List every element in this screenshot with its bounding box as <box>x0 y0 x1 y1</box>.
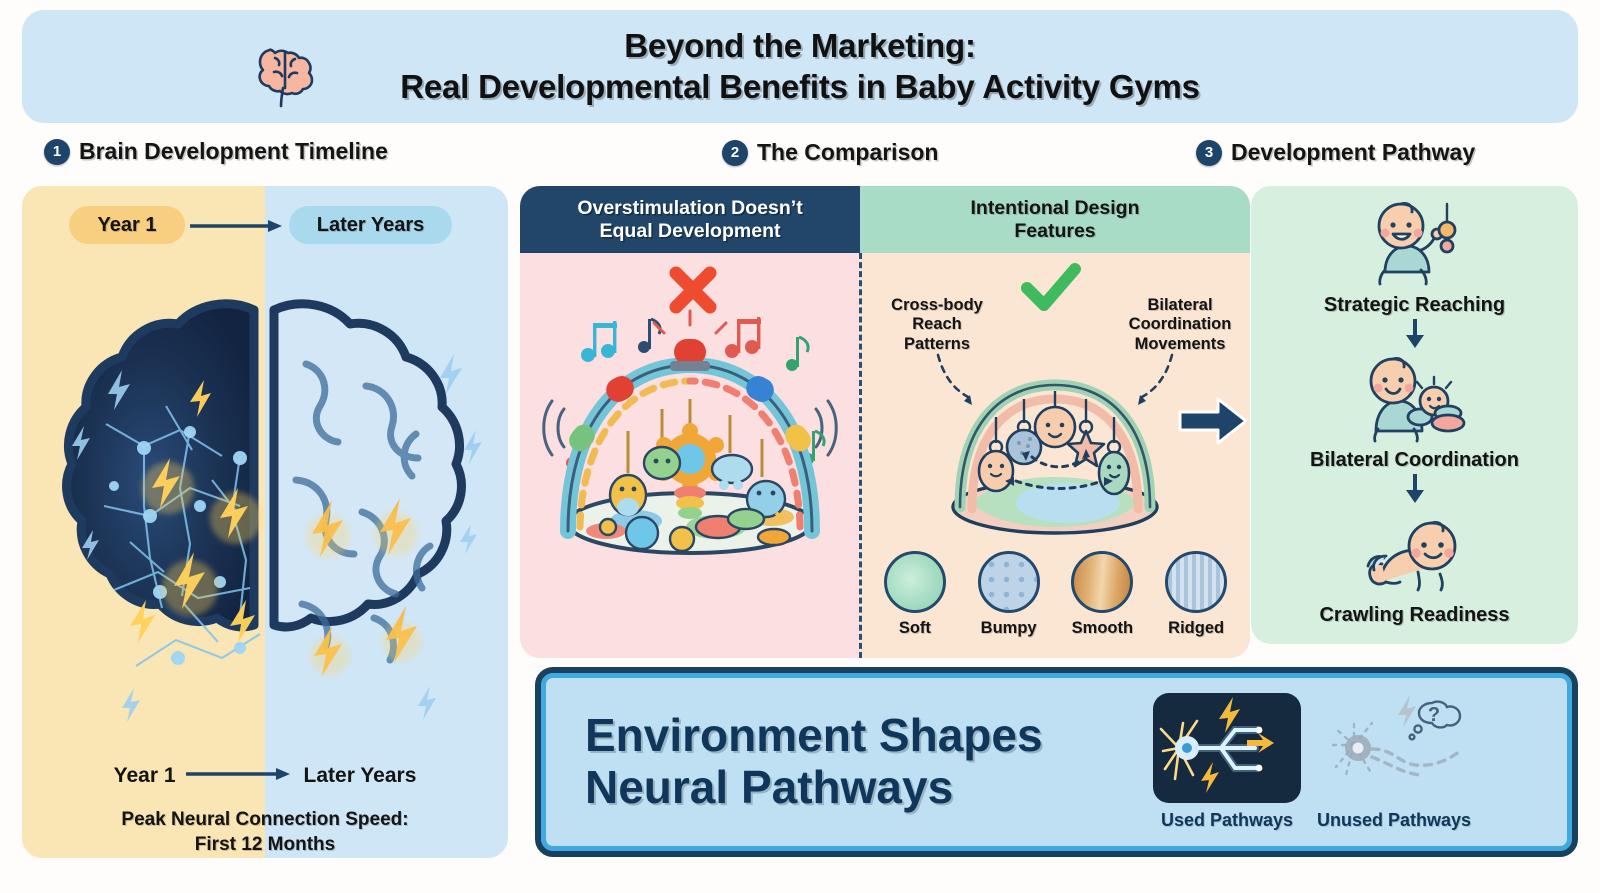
arrow-down-icon <box>1402 474 1428 504</box>
later-years-pill: Later Years <box>289 206 452 244</box>
section-label-1: Brain Development Timeline <box>79 138 388 165</box>
caption-line-2: First 12 Months <box>22 833 508 858</box>
section-number-2: 2 <box>722 140 748 166</box>
timeline-arrow-row: Year 1 Later Years <box>22 758 508 794</box>
section-label-2: The Comparison <box>757 139 938 166</box>
texture-item: Soft <box>877 551 953 638</box>
baby-reaching-icon <box>1355 196 1473 292</box>
arrow-right-icon <box>186 767 294 786</box>
texture-label: Ridged <box>1158 619 1234 638</box>
left-header-line-1: Overstimulation Doesn’t <box>577 197 802 220</box>
used-pathways-caption: Used Pathways <box>1161 810 1293 831</box>
cross-body-reach-note: Cross-body Reach Patterns <box>878 296 996 354</box>
texture-label: Soft <box>877 619 953 638</box>
section-number-3: 3 <box>1196 140 1222 166</box>
timeline-start-label: Year 1 <box>114 764 176 788</box>
arrow-right-icon <box>190 219 286 233</box>
bilateral-coordination-note: Bilateral Coordination Movements <box>1116 296 1244 354</box>
year-1-pill: Year 1 <box>69 206 185 244</box>
texture-item: Smooth <box>1064 551 1140 638</box>
right-header-line-1: Intentional Design <box>970 197 1139 220</box>
green-check-icon <box>1020 260 1082 314</box>
takeaway-line-1: Environment Shapes <box>585 710 1145 762</box>
texture-swatch-row: Soft Bumpy Smooth Ridged <box>868 551 1243 651</box>
baby-crawling-icon <box>1356 506 1474 602</box>
section-heading-1: 1 Brain Development Timeline <box>44 138 388 165</box>
section-label-3: Development Pathway <box>1231 139 1475 166</box>
peak-speed-caption: Peak Neural Connection Speed: First 12 M… <box>22 808 508 857</box>
caption-line-1: Peak Neural Connection Speed: <box>22 808 508 833</box>
block-arrow-right-icon <box>1178 393 1248 449</box>
pathway-step: Crawling Readiness <box>1319 506 1509 627</box>
svg-text:?: ? <box>1428 704 1440 726</box>
section-number-1: 1 <box>44 139 70 165</box>
takeaway-line-2: Neural Pathways <box>585 762 1145 814</box>
takeaway-headline: Environment Shapes Neural Pathways <box>585 710 1145 813</box>
unused-pathways-item: ? Unused Pathways <box>1317 693 1471 831</box>
comparison-right-header: Intentional Design Features <box>860 186 1250 253</box>
texture-label: Bumpy <box>971 619 1047 638</box>
pathway-step-label: Strategic Reaching <box>1324 294 1505 317</box>
soft-fabric-swatch-icon <box>884 551 946 613</box>
infographic-canvas: Beyond the Marketing: Real Developmental… <box>0 0 1600 893</box>
panel-the-comparison: Overstimulation Doesn’t Equal Developmen… <box>520 186 1250 658</box>
unused-pathways-caption: Unused Pathways <box>1317 810 1471 831</box>
baby-two-hands-icon <box>1356 351 1474 447</box>
key-takeaway-box: Environment Shapes Neural Pathways <box>535 667 1578 857</box>
section-heading-3: 3 Development Pathway <box>1196 139 1475 166</box>
right-header-line-2: Features <box>970 220 1139 243</box>
used-pathways-item: Used Pathways <box>1153 693 1301 831</box>
pathway-comparison-icons: Used Pathways <box>1153 693 1471 831</box>
header-banner: Beyond the Marketing: Real Developmental… <box>22 10 1578 123</box>
page-title: Beyond the Marketing: Real Developmental… <box>400 26 1200 107</box>
pathway-step: Bilateral Coordination <box>1310 351 1519 472</box>
texture-label: Smooth <box>1064 619 1140 638</box>
arrow-down-icon <box>1402 319 1428 349</box>
title-line-2: Real Developmental Benefits in Baby Acti… <box>400 67 1200 107</box>
active-neuron-icon <box>1153 693 1301 803</box>
panel-brain-development-timeline: Year 1 Later Years <box>22 186 508 858</box>
pathway-step: Strategic Reaching <box>1324 196 1505 317</box>
overstimulating-activity-gym-icon <box>540 281 840 561</box>
pathway-step-label: Crawling Readiness <box>1319 604 1509 627</box>
bumpy-dots-swatch-icon <box>978 551 1040 613</box>
ridged-stripes-swatch-icon <box>1165 551 1227 613</box>
comparison-divider <box>859 253 862 658</box>
pathway-step-label: Bilateral Coordination <box>1310 449 1519 472</box>
left-header-line-2: Equal Development <box>577 220 802 243</box>
timeline-end-label: Later Years <box>304 764 417 788</box>
calm-activity-gym-icon <box>920 351 1190 546</box>
brain-icon <box>244 30 328 110</box>
texture-item: Ridged <box>1158 551 1234 638</box>
faded-neuron-icon: ? <box>1320 693 1468 803</box>
title-line-1: Beyond the Marketing: <box>400 26 1200 66</box>
smooth-wood-swatch-icon <box>1071 551 1133 613</box>
panel-development-pathway: Strategic Reaching <box>1251 186 1578 644</box>
comparison-left-header: Overstimulation Doesn’t Equal Developmen… <box>520 186 860 253</box>
section-heading-2: 2 The Comparison <box>722 139 938 166</box>
split-brain-icon <box>44 274 484 744</box>
texture-item: Bumpy <box>971 551 1047 638</box>
